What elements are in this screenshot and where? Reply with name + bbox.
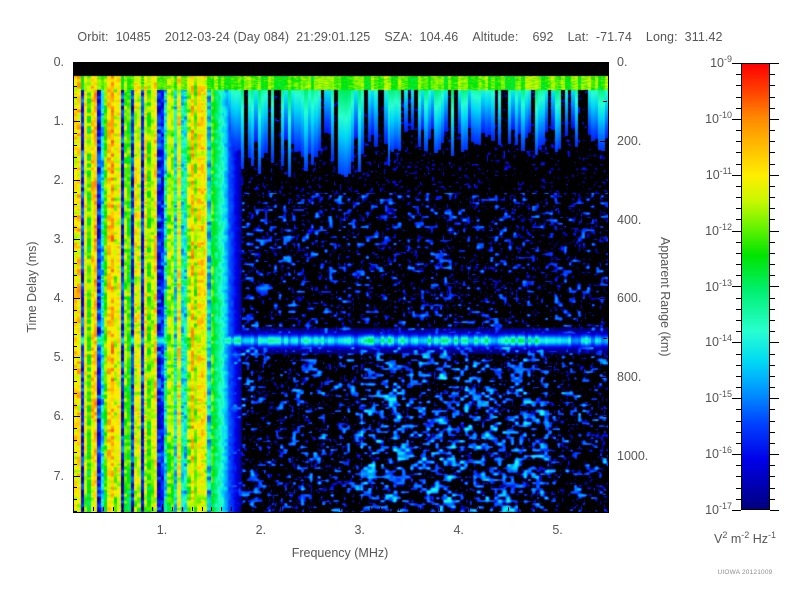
y2-tick-label: 1000. xyxy=(617,449,648,463)
colorbar-tick-label: 10-10 xyxy=(662,112,732,126)
colorbar-tick-label: 10-17 xyxy=(662,503,732,517)
colorbar-tick-label: 10-16 xyxy=(662,447,732,461)
colorbar-unit-label: V2 m-2 Hz-1 xyxy=(690,532,800,546)
colorbar xyxy=(741,63,770,510)
observation-time: 21:29:01.125 xyxy=(296,30,370,44)
orbit-value: 10485 xyxy=(116,30,151,44)
y2-tick-label: 800. xyxy=(617,370,641,384)
ionogram-heatmap xyxy=(73,62,609,513)
y2-tick-label: 200. xyxy=(617,134,641,148)
y2-tick-label: 600. xyxy=(617,291,641,305)
y2-tick-label: 0. xyxy=(617,55,627,69)
y-tick-label: 0. xyxy=(0,55,74,69)
x-tick-label: 4. xyxy=(453,523,463,537)
sza-value: 104.46 xyxy=(420,30,459,44)
orbit-label: Orbit: xyxy=(77,30,108,44)
x-tick-label: 3. xyxy=(355,523,365,537)
credit-stamp: UIOWA 20121009 xyxy=(690,569,800,576)
colorbar-tick-label: 10-15 xyxy=(662,391,732,405)
colorbar-tick-label: 10-11 xyxy=(662,168,732,182)
unit-m: m xyxy=(727,532,741,546)
unit-hz-exp: -1 xyxy=(768,530,776,540)
colorbar-tick-label: 10-14 xyxy=(662,335,732,349)
x-tick-label: 2. xyxy=(256,523,266,537)
x-axis-title: Frequency (MHz) xyxy=(73,546,607,560)
colorbar-tick-label: 10-9 xyxy=(662,56,732,70)
y-tick-label: 6. xyxy=(0,409,74,423)
y-axis-left-title: Time Delay (ms) xyxy=(25,237,39,337)
altitude-label: Altitude: xyxy=(472,30,518,44)
long-label: Long: xyxy=(646,30,678,44)
x-tick-label: 1. xyxy=(157,523,167,537)
y-tick-label: 1. xyxy=(0,114,74,128)
unit-hz: Hz xyxy=(749,532,768,546)
figure-header: Orbit:104852012-03-24 (Day 084)21:29:01.… xyxy=(0,30,800,44)
x-tick-label: 5. xyxy=(552,523,562,537)
ionogram-figure: Orbit:104852012-03-24 (Day 084)21:29:01.… xyxy=(0,0,800,600)
y-tick-label: 2. xyxy=(0,173,74,187)
altitude-value: 692 xyxy=(532,30,553,44)
colorbar-tick-label: 10-13 xyxy=(662,280,732,294)
spectrogram-canvas xyxy=(74,63,608,512)
long-value: 311.42 xyxy=(685,30,723,44)
y-tick-label: 7. xyxy=(0,469,74,483)
y-tick-label: 5. xyxy=(0,350,74,364)
sza-label: SZA: xyxy=(384,30,412,44)
y2-tick-label: 400. xyxy=(617,213,641,227)
colorbar-tick-label: 10-12 xyxy=(662,224,732,238)
lat-label: Lat: xyxy=(568,30,589,44)
observation-date: 2012-03-24 (Day 084) xyxy=(165,30,289,44)
lat-value: -71.74 xyxy=(596,30,632,44)
